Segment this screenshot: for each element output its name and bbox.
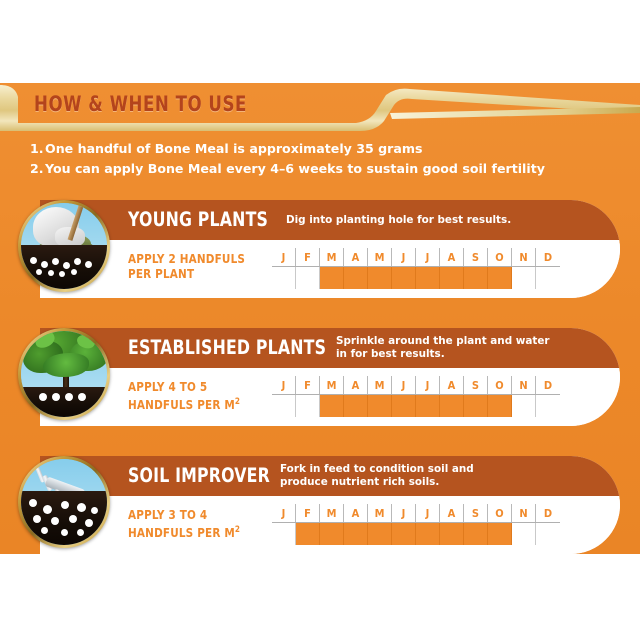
calendar-month-label: A bbox=[440, 376, 464, 394]
infographic-root: HOW & WHEN TO USE 1. One handful of Bone… bbox=[0, 0, 640, 640]
calendar-month-labels: JFMAMJJASOND bbox=[272, 376, 560, 394]
calendar-cell-active bbox=[416, 267, 440, 289]
header-ribbon: HOW & WHEN TO USE bbox=[0, 83, 640, 131]
intro-item-2: 2. You can apply Bone Meal every 4–6 wee… bbox=[30, 160, 620, 178]
calendar-month-label: O bbox=[488, 248, 512, 266]
calendar-cell-active bbox=[368, 267, 392, 289]
calendar-month-label: J bbox=[392, 504, 416, 522]
panel-title: YOUNG PLANTS bbox=[128, 210, 270, 230]
calendar-cell-active bbox=[392, 395, 416, 417]
calendar-month-label: S bbox=[464, 376, 488, 394]
calendar-month-labels: JFMAMJJASOND bbox=[272, 248, 560, 266]
dosage-text: APPLY 4 TO 5 HANDFULS PER M2 bbox=[128, 380, 240, 412]
calendar-month-label: N bbox=[512, 376, 536, 394]
calendar-month-label: M bbox=[368, 376, 392, 394]
intro-text: You can apply Bone Meal every 4–6 weeks … bbox=[45, 160, 545, 178]
calendar-cell-active bbox=[368, 523, 392, 545]
panel-title: SOIL IMPROVER bbox=[128, 466, 265, 486]
calendar-cell-inactive bbox=[512, 267, 536, 289]
page-title: HOW & WHEN TO USE bbox=[34, 92, 247, 116]
calendar-month-label: M bbox=[320, 248, 344, 266]
calendar-month-label: M bbox=[320, 376, 344, 394]
young-plant-planting-icon bbox=[18, 200, 110, 292]
calendar-cell-active bbox=[320, 523, 344, 545]
calendar-month-label: A bbox=[440, 248, 464, 266]
intro-text: One handful of Bone Meal is approximatel… bbox=[45, 140, 423, 158]
calendar-cell-active bbox=[344, 523, 368, 545]
calendar-month-labels: JFMAMJJASOND bbox=[272, 504, 560, 522]
calendar-month-label: A bbox=[344, 376, 368, 394]
calendar-month-label: A bbox=[344, 248, 368, 266]
intro-item-1: 1. One handful of Bone Meal is approxima… bbox=[30, 140, 620, 158]
panel-body: APPLY 2 HANDFULS PER PLANT JFMAMJJASOND bbox=[40, 240, 620, 298]
calendar-cell-active bbox=[320, 267, 344, 289]
dosage-line-1: APPLY 4 TO 5 bbox=[128, 380, 240, 395]
calendar-month-label: N bbox=[512, 248, 536, 266]
calendar-cell-active bbox=[392, 523, 416, 545]
panel-description: Fork in feed to condition soil and produ… bbox=[280, 463, 520, 488]
panel-heading-strip: ESTABLISHED PLANTS Sprinkle around the p… bbox=[40, 328, 620, 368]
calendar-cell-active bbox=[344, 267, 368, 289]
calendar-month-label: M bbox=[320, 504, 344, 522]
calendar-cell-active bbox=[464, 395, 488, 417]
calendar-cell-inactive bbox=[296, 267, 320, 289]
dosage-line-2: PER PLANT bbox=[128, 267, 245, 282]
calendar-month-label: J bbox=[272, 248, 296, 266]
calendar-month-label: F bbox=[296, 504, 320, 522]
calendar-cell-active bbox=[464, 267, 488, 289]
calendar-month-label: J bbox=[416, 504, 440, 522]
calendar-month-cells bbox=[272, 523, 560, 545]
calendar-month-cells bbox=[272, 267, 560, 289]
calendar-cell-inactive bbox=[512, 523, 536, 545]
calendar-month-label: D bbox=[536, 504, 560, 522]
calendar-cell-active bbox=[440, 267, 464, 289]
garden-fork-soil-icon bbox=[18, 456, 110, 548]
calendar-cell-active bbox=[392, 267, 416, 289]
calendar-month-label: J bbox=[392, 376, 416, 394]
calendar-month-label: J bbox=[272, 376, 296, 394]
calendar-month-label: J bbox=[416, 248, 440, 266]
calendar-cell-inactive bbox=[536, 267, 560, 289]
calendar-cell-active bbox=[416, 523, 440, 545]
panel-heading-strip: SOIL IMPROVER Fork in feed to condition … bbox=[40, 456, 620, 496]
calendar-month-label: F bbox=[296, 248, 320, 266]
calendar-month-label: S bbox=[464, 504, 488, 522]
calendar-month-label: J bbox=[272, 504, 296, 522]
established-tree-icon bbox=[18, 328, 110, 420]
month-calendar: JFMAMJJASOND bbox=[272, 376, 560, 420]
dosage-text: APPLY 3 TO 4 HANDFULS PER M2 bbox=[128, 508, 240, 540]
calendar-cell-active bbox=[488, 267, 512, 289]
calendar-cell-active bbox=[488, 395, 512, 417]
calendar-month-label: J bbox=[392, 248, 416, 266]
calendar-cell-inactive bbox=[272, 395, 296, 417]
calendar-month-label: O bbox=[488, 376, 512, 394]
dosage-line-1: APPLY 3 TO 4 bbox=[128, 508, 240, 523]
usage-panel-established-plants: ESTABLISHED PLANTS Sprinkle around the p… bbox=[40, 328, 620, 426]
panel-title: ESTABLISHED PLANTS bbox=[128, 338, 315, 358]
calendar-month-label: A bbox=[344, 504, 368, 522]
calendar-cell-active bbox=[440, 395, 464, 417]
intro-number: 1. bbox=[30, 140, 45, 158]
intro-number: 2. bbox=[30, 160, 45, 178]
panel-description: Sprinkle around the plant and water in f… bbox=[336, 335, 551, 360]
calendar-cell-inactive bbox=[272, 523, 296, 545]
panel-body: APPLY 4 TO 5 HANDFULS PER M2 JFMAMJJASON… bbox=[40, 368, 620, 426]
calendar-cell-active bbox=[368, 395, 392, 417]
calendar-cell-inactive bbox=[536, 395, 560, 417]
calendar-cell-inactive bbox=[512, 395, 536, 417]
usage-panel-young-plants: YOUNG PLANTS Dig into planting hole for … bbox=[40, 200, 620, 298]
calendar-month-label: J bbox=[416, 376, 440, 394]
calendar-cell-active bbox=[296, 523, 320, 545]
calendar-month-label: M bbox=[368, 504, 392, 522]
usage-panel-soil-improver: SOIL IMPROVER Fork in feed to condition … bbox=[40, 456, 620, 554]
calendar-cell-active bbox=[320, 395, 344, 417]
panel-description: Dig into planting hole for best results. bbox=[286, 214, 511, 227]
calendar-month-label: N bbox=[512, 504, 536, 522]
calendar-month-label: D bbox=[536, 376, 560, 394]
calendar-cell-inactive bbox=[296, 395, 320, 417]
calendar-cell-active bbox=[416, 395, 440, 417]
dosage-line-2: HANDFULS PER M2 bbox=[128, 395, 240, 413]
dosage-line-1: APPLY 2 HANDFULS bbox=[128, 252, 245, 267]
calendar-month-label: S bbox=[464, 248, 488, 266]
calendar-month-label: F bbox=[296, 376, 320, 394]
calendar-cell-active bbox=[488, 523, 512, 545]
calendar-cell-inactive bbox=[272, 267, 296, 289]
dosage-text: APPLY 2 HANDFULS PER PLANT bbox=[128, 252, 245, 281]
calendar-month-label: M bbox=[368, 248, 392, 266]
month-calendar: JFMAMJJASOND bbox=[272, 504, 560, 548]
calendar-month-label: D bbox=[536, 248, 560, 266]
calendar-month-label: O bbox=[488, 504, 512, 522]
calendar-cell-active bbox=[344, 395, 368, 417]
calendar-month-cells bbox=[272, 395, 560, 417]
calendar-month-label: A bbox=[440, 504, 464, 522]
intro-list: 1. One handful of Bone Meal is approxima… bbox=[30, 140, 620, 180]
panel-body: APPLY 3 TO 4 HANDFULS PER M2 JFMAMJJASON… bbox=[40, 496, 620, 554]
calendar-cell-active bbox=[464, 523, 488, 545]
month-calendar: JFMAMJJASOND bbox=[272, 248, 560, 292]
calendar-cell-active bbox=[440, 523, 464, 545]
dosage-line-2: HANDFULS PER M2 bbox=[128, 523, 240, 541]
panel-heading-strip: YOUNG PLANTS Dig into planting hole for … bbox=[40, 200, 620, 240]
calendar-cell-inactive bbox=[536, 523, 560, 545]
